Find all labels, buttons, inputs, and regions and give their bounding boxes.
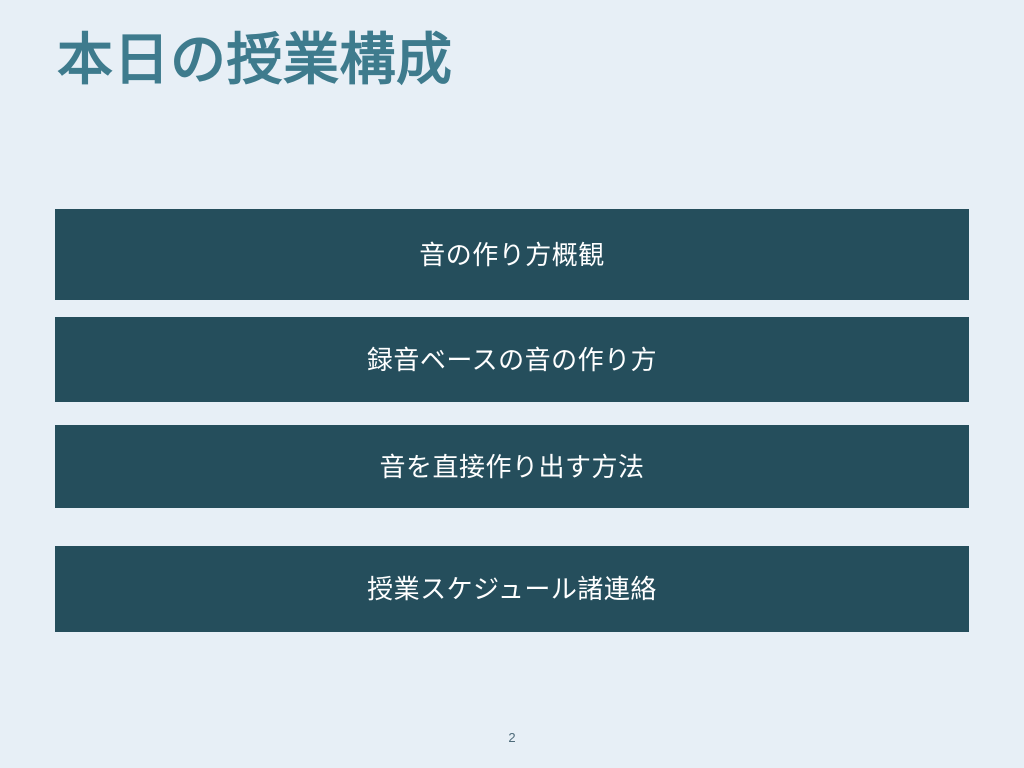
agenda-item-2[interactable]: 録音ベースの音の作り方 — [55, 317, 969, 402]
page-number: 2 — [0, 730, 1024, 745]
agenda-item-1-label: 音の作り方概観 — [419, 242, 605, 268]
agenda-item-3[interactable]: 音を直接作り出す方法 — [55, 425, 969, 508]
agenda-item-1[interactable]: 音の作り方概観 — [55, 209, 969, 300]
agenda-item-4[interactable]: 授業スケジュール諸連絡 — [55, 546, 969, 632]
agenda-item-2-label: 録音ベースの音の作り方 — [367, 347, 657, 373]
agenda-list: 音の作り方概観 録音ベースの音の作り方 音を直接作り出す方法 授業スケジュール諸… — [55, 209, 969, 632]
page-title: 本日の授業構成 — [57, 26, 453, 93]
agenda-item-4-label: 授業スケジュール諸連絡 — [367, 576, 657, 602]
agenda-item-3-label: 音を直接作り出す方法 — [379, 454, 644, 480]
presentation-slide: 本日の授業構成 音の作り方概観 録音ベースの音の作り方 音を直接作り出す方法 授… — [0, 0, 1024, 768]
